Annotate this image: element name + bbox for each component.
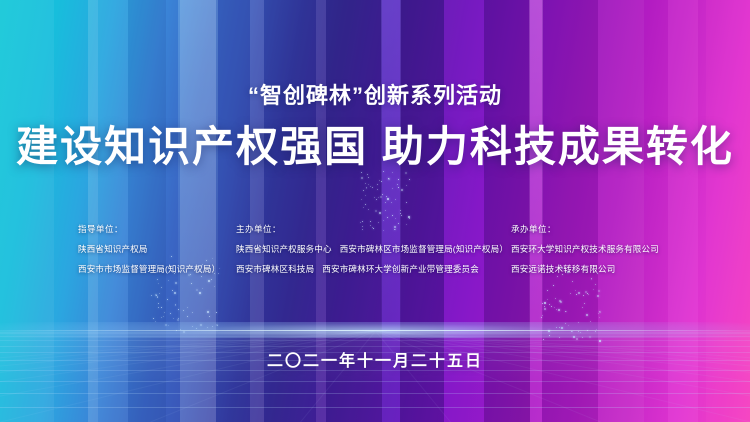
poster-main-title: 建设知识产权强国 助力科技成果转化 <box>0 122 750 172</box>
org-line: 陕西省知识产权服务中心西安市碑林区市场监督管理局(知识产权局） <box>236 239 508 259</box>
org-line: 西安市碑林区科技局西安市碑林环大学创新产业带管理委员会 <box>236 259 508 279</box>
organization-column-host: 主办单位： 陕西省知识产权服务中心西安市碑林区市场监督管理局(知识产权局） 西安… <box>236 219 508 279</box>
poster-subtitle: “智创碑林”创新系列活动 <box>0 78 750 110</box>
org-line: 西安远诺技术转移有限公司 <box>511 259 659 279</box>
poster-canvas: “智创碑林”创新系列活动 建设知识产权强国 助力科技成果转化 指导单位： 陕西省… <box>0 0 750 422</box>
organization-column-organizer: 承办单位： 西安环大学知识产权技术服务有限公司 西安远诺技术转移有限公司 <box>511 219 659 279</box>
org-line: 西安市市场监督管理局(知识产权局） <box>78 259 220 279</box>
organization-column-guidance: 指导单位： 陕西省知识产权局 西安市市场监督管理局(知识产权局） <box>78 219 220 279</box>
poster-content: “智创碑林”创新系列活动 建设知识产权强国 助力科技成果转化 指导单位： 陕西省… <box>0 0 750 422</box>
org-line: 陕西省知识产权局 <box>78 239 220 259</box>
event-date: 二〇二一年十一月二十五日 <box>0 347 750 371</box>
org-line: 西安环大学知识产权技术服务有限公司 <box>511 239 659 259</box>
column-heading-host: 主办单位： <box>236 219 508 239</box>
column-heading-organizer: 承办单位： <box>511 219 659 239</box>
column-heading-guidance: 指导单位： <box>78 219 220 239</box>
